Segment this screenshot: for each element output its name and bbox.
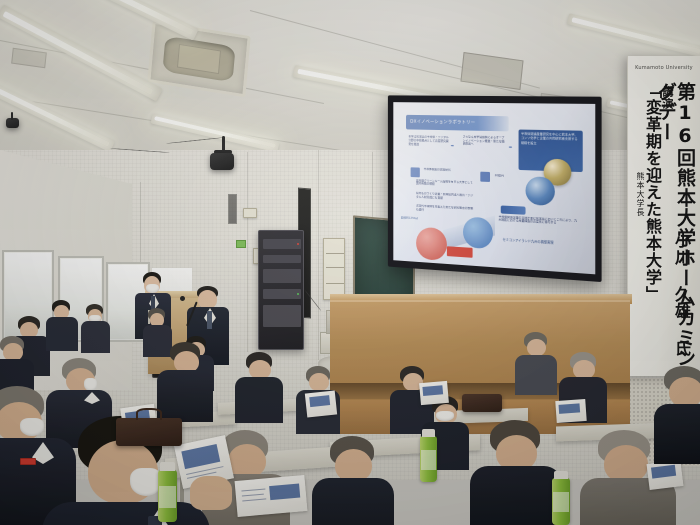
event-banner: Kumamoto University 第16回熊本大学ホームカミングデー 講演… [627, 56, 700, 376]
microphone-head [180, 296, 185, 301]
slide-budget-label: 20億円 [495, 174, 519, 183]
banner-lecture-title: 「変革期を迎えた熊本大学」 [644, 82, 660, 303]
wall-seam [247, 152, 248, 352]
hand [190, 476, 232, 510]
kumamoto-university-logo: Kumamoto University [628, 65, 700, 71]
handout-paper [647, 460, 684, 490]
handout-paper [419, 381, 449, 405]
slide-bullet-2: 最先端クリーンルーム設備を有する大学として国内有数の規模 [416, 179, 474, 193]
wall-control-panel [323, 238, 345, 300]
screen-surface: DXイノベーションラボラトリー 本学は熊本県の半導体・デジタル分野の中核拠点とし… [393, 102, 595, 274]
slide-budget-icon [480, 172, 490, 182]
briefcase[interactable] [462, 394, 502, 412]
slide-globe-blue [525, 176, 554, 206]
slide-oval-blue [463, 216, 493, 249]
ac-center-panel [177, 44, 221, 73]
av-equipment-rack [258, 230, 304, 350]
slide-note-tag [501, 205, 526, 214]
slide-title-text: DXイノベーションラボラトリー [410, 119, 475, 126]
slide-bullet-icon [410, 168, 420, 178]
presentation-slide: DXイノベーションラボラトリー 本学は熊本県の半導体・デジタル分野の中核拠点とし… [393, 102, 595, 274]
slide-title-bar: DXイノベーションラボラトリー [406, 115, 508, 131]
camera-mount [11, 112, 13, 120]
slide-bullet-3: 県内ものづくり企業・熊本県内法人教育・デジタル人材育成にも貢献 [416, 192, 474, 206]
banner-speaker-name: 小川 久雄 氏 [673, 232, 689, 357]
ceiling-projector [210, 153, 234, 170]
handout-paper [235, 475, 308, 517]
slide-left-block-2: さらなる産学官連携によるオープンイノベーション推進・新たな価値創出へ [463, 135, 507, 161]
banner-speaker-role: 熊本大学長 [636, 172, 644, 217]
slide-bullet-1: 半導体関連の試験研究 [424, 168, 475, 179]
slide-left-block-1: 本学は熊本県の半導体・デジタル分野の中核拠点として高度研究開発を推進 [408, 136, 448, 159]
tea-bottle[interactable] [158, 470, 177, 522]
name-badge [20, 458, 36, 465]
slide-diagram-label: 面積約1250㎡ [401, 216, 424, 225]
wall-speaker [243, 208, 257, 218]
emergency-exit-sign [236, 240, 246, 248]
handout-paper [305, 390, 337, 417]
tea-bottle[interactable] [552, 478, 570, 525]
bottle-cap[interactable] [554, 471, 568, 479]
bottle-cap[interactable] [422, 429, 435, 437]
necktie [207, 311, 212, 329]
bottle-cap[interactable] [160, 462, 175, 471]
projection-screen: DXイノベーションラボラトリー 本学は熊本県の半導体・デジタル分野の中核拠点とし… [388, 95, 602, 282]
ac-grille [162, 36, 235, 83]
handout-paper [555, 399, 586, 423]
banner-lecture-label: 講演 [662, 86, 673, 110]
wall-fixture [228, 194, 237, 224]
briefcase-handle[interactable] [136, 408, 162, 420]
briefcase[interactable] [116, 418, 182, 446]
lecture-hall-photo: DXイノベーションラボラトリー 本学は熊本県の半導体・デジタル分野の中核拠点とし… [0, 0, 700, 525]
slide-badge [447, 246, 473, 257]
slide-arrow-icon: ➡ [451, 143, 454, 148]
slide-lower-note: 半導体関連企業の立地が進む熊本県においてこれにより、九州地区における産業構造の高… [499, 215, 578, 238]
slide-caption: セミコンアイランド九州の構想実現 [503, 237, 554, 245]
face-mask [146, 284, 159, 293]
wall-seam [318, 150, 319, 360]
slide-bullet-4: 次世代半導体を見据えた新たな研究拠点の整備も進行 [416, 204, 474, 218]
tea-bottle[interactable] [420, 436, 437, 482]
slide-arrow-icon: ➡ [509, 144, 512, 149]
